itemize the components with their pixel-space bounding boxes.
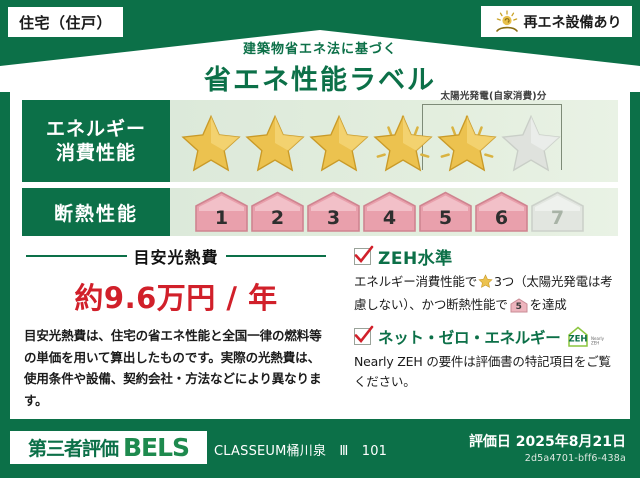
star-filled xyxy=(372,114,434,174)
svg-text:ZEH: ZEH xyxy=(569,334,588,344)
house-level-number: 7 xyxy=(551,207,564,233)
building-type-chip: 住宅（住戸） xyxy=(8,7,123,37)
evaluation-id: 2d5a4701-bff6-438a xyxy=(469,453,626,464)
zeh-level-item: ZEH水準 エネルギー消費性能で3つ（太陽光発電は考慮しない）、かつ断熱性能で5… xyxy=(354,244,622,320)
house-level-on: 2 xyxy=(250,191,305,233)
check-icon xyxy=(354,328,371,345)
bels-en-label: BELS xyxy=(123,435,189,460)
energy-head-line1: エネルギー xyxy=(46,117,146,141)
mini-house-badge: 5 xyxy=(510,298,528,319)
zeh-level-title: ZEH水準 xyxy=(354,244,622,269)
heading-rule-left xyxy=(26,255,127,257)
renewable-equipment-chip: 再エネ設備あり xyxy=(481,6,632,37)
energy-performance-head: エネルギー 消費性能 xyxy=(22,100,170,182)
house-level-number: 5 xyxy=(439,207,452,233)
house-level-on: 5 xyxy=(418,191,473,233)
utility-cost-note: 目安光熱費は、住宅の省エネ性能と全国一律の燃料等の単価を用いて算出したものです。… xyxy=(24,325,329,411)
star-rating xyxy=(180,114,562,174)
star-filled xyxy=(180,114,242,174)
evaluation-date: 評価日 2025年8月21日 xyxy=(469,431,626,451)
zeh-desc-part-c: を達成 xyxy=(530,297,567,312)
zeh-badge-icon: ZEH Nearly ZEH xyxy=(567,325,607,349)
utility-cost-title: 目安光熱費 xyxy=(134,244,219,268)
energy-performance-label: ABAM 住宅（住戸） 再エネ設備あり 建築物省エネ法に基づく xyxy=(0,0,640,478)
energy-performance-row: エネルギー 消費性能 太陽光発電(自家消費)分 xyxy=(22,100,618,182)
house-level-number: 3 xyxy=(327,207,340,233)
energy-head-line2: 消費性能 xyxy=(56,141,136,165)
main-card: エネルギー 消費性能 太陽光発電(自家消費)分 断熱性能 1234567 目安光… xyxy=(10,92,630,419)
house-level-number: 2 xyxy=(271,207,284,233)
house-level-off: 7 xyxy=(530,191,585,233)
net-zero-energy-item: ネット・ゼロ・エネルギー ZEH Nearly ZEH Nearly ZEH の… xyxy=(354,325,622,393)
zeh-level-label: ZEH水準 xyxy=(378,244,453,269)
house-level-on: 4 xyxy=(362,191,417,233)
bels-jp-label: 第三者評価 xyxy=(28,434,118,461)
mini-house-level: 5 xyxy=(510,300,528,315)
energy-rating-area: 太陽光発電(自家消費)分 xyxy=(170,100,618,182)
net-zero-title: ネット・ゼロ・エネルギー ZEH Nearly ZEH xyxy=(354,325,622,349)
insulation-performance-row: 断熱性能 1234567 xyxy=(22,188,618,236)
insulation-rating-area: 1234567 xyxy=(170,188,618,236)
solar-caption: 太陽光発電(自家消費)分 xyxy=(406,88,581,102)
utility-cost-block: 目安光熱費 約9.6万円 / 年 xyxy=(26,244,326,317)
footer: 第三者評価 BELS CLASSEUM桶川泉 Ⅲ 101 評価日 2025年8月… xyxy=(0,425,640,478)
house-level-number: 4 xyxy=(383,207,396,233)
bels-logo: 第三者評価 BELS xyxy=(10,431,207,464)
star-filled xyxy=(244,114,306,174)
star-empty xyxy=(500,114,562,174)
star-filled xyxy=(308,114,370,174)
sun-icon xyxy=(494,10,520,34)
house-level-on: 3 xyxy=(306,191,361,233)
mini-star-icon xyxy=(478,277,493,292)
insulation-head-label: 断熱性能 xyxy=(54,199,138,226)
net-zero-description: Nearly ZEH の要件は評価書の特記項目をご覧ください。 xyxy=(354,352,622,393)
house-level-number: 1 xyxy=(215,207,228,233)
svg-text:ZEH: ZEH xyxy=(591,340,599,345)
insulation-head: 断熱性能 xyxy=(22,188,170,236)
net-zero-label: ネット・ゼロ・エネルギー xyxy=(378,326,560,348)
zeh-level-description: エネルギー消費性能で3つ（太陽光発電は考慮しない）、かつ断熱性能で5を達成 xyxy=(354,272,622,320)
zeh-block: ZEH水準 エネルギー消費性能で3つ（太陽光発電は考慮しない）、かつ断熱性能で5… xyxy=(354,244,622,397)
house-level-on: 6 xyxy=(474,191,529,233)
evaluation-info: 評価日 2025年8月21日 2d5a4701-bff6-438a xyxy=(469,431,626,464)
house-level-number: 6 xyxy=(495,207,508,233)
renewable-label: 再エネ設備あり xyxy=(524,12,622,32)
house-level-on: 1 xyxy=(194,191,249,233)
building-type-label: 住宅（住戸） xyxy=(19,12,112,33)
property-name: CLASSEUM桶川泉 Ⅲ 101 xyxy=(214,440,387,459)
roof-shape xyxy=(0,30,640,92)
utility-cost-heading: 目安光熱費 xyxy=(26,244,326,268)
utility-cost-value: 約9.6万円 / 年 xyxy=(26,275,326,317)
zeh-desc-part-a: エネルギー消費性能で xyxy=(354,274,477,289)
check-icon xyxy=(354,248,371,265)
heading-rule-right xyxy=(226,255,327,257)
star-filled xyxy=(436,114,498,174)
house-scale: 1234567 xyxy=(194,191,585,233)
